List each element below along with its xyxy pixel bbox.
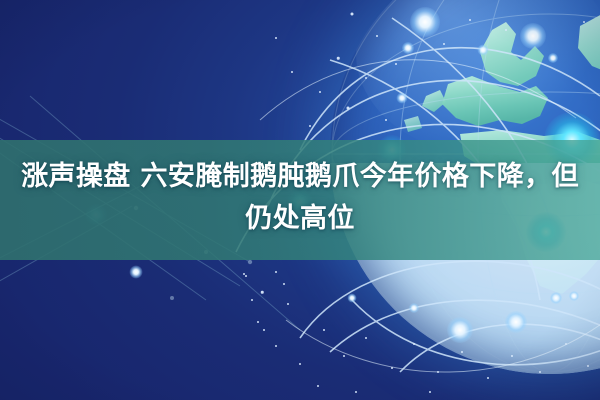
star-speck (287, 303, 289, 305)
star-speck (291, 71, 293, 73)
star-speck (355, 391, 357, 393)
star-speck (323, 329, 325, 331)
star-speck (257, 321, 259, 323)
star-speck (319, 91, 321, 93)
star-speck (429, 391, 431, 393)
star-speck (275, 271, 277, 273)
star-speck (275, 37, 277, 39)
star-speck (487, 377, 489, 379)
star-speck (283, 283, 285, 285)
star-speck (299, 363, 301, 365)
news-thumbnail-banner: 涨声操盘 六安腌制鹅肫鹅爪今年价格下降，但仍处高位 (0, 0, 600, 400)
star-speck (243, 273, 245, 275)
star-speck (263, 329, 265, 331)
star-speck (251, 299, 253, 301)
star-speck (275, 345, 277, 347)
star-speck (245, 275, 247, 277)
star-speck (309, 125, 311, 127)
glow-node (130, 266, 143, 279)
star-speck (317, 385, 319, 387)
page-title: 涨声操盘 六安腌制鹅肫鹅爪今年价格下降，但仍处高位 (0, 156, 600, 240)
star-speck (261, 291, 264, 294)
